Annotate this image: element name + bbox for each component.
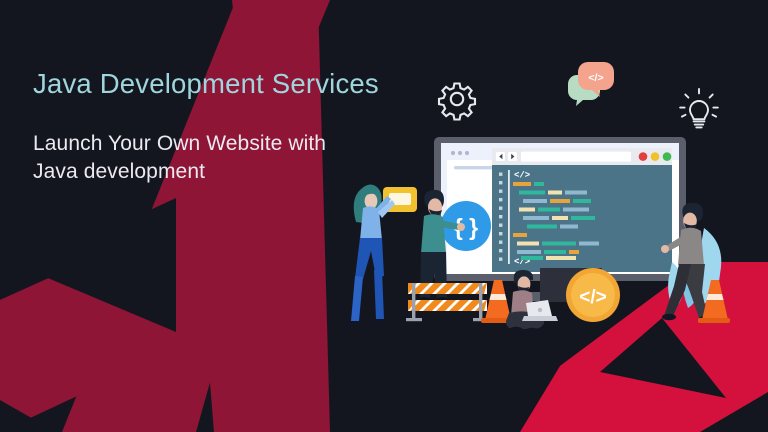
code-bar [517,250,541,254]
editor-vertical-rule [508,170,510,264]
woman-shoe-left [348,321,361,327]
code-bar [569,250,579,254]
code-bar [546,256,576,260]
illustration: </> [0,0,768,432]
man3-shoe-front [662,314,676,320]
barrier-leg-left [412,283,415,321]
code-bar [534,182,544,186]
code-bar [573,199,591,203]
page-subtitle: Launch Your Own Website with Java develo… [33,130,383,186]
code-bar [517,242,539,246]
construction-barrier [406,283,489,321]
code-bar [523,216,549,220]
back-window-dot-3 [465,151,469,155]
text-block: Java Development Services Launch Your Ow… [33,68,433,185]
code-bar [544,250,566,254]
man3-hand [661,245,669,253]
back-window-dot-2 [458,151,462,155]
code-bar [550,199,570,203]
code-coin-text: </> [579,287,606,308]
cone-right-base [698,318,730,323]
woman-shoe-right [373,319,386,325]
code-bar [563,208,589,212]
code-bar [527,225,557,229]
cone-right-stripe [706,294,723,300]
code-bar [513,233,527,237]
chat-bubble-code-text: </> [588,72,603,84]
code-bar [519,191,545,195]
subtitle-line-1: Launch Your Own Website with [33,132,326,155]
subtitle-line-2: Java development [33,160,205,183]
character-woman-reaching-card [348,184,418,327]
lightbulb-icon [680,89,718,127]
woman-leg-right [374,270,384,319]
barrier-foot-left [406,318,422,321]
code-bar [538,208,560,212]
editor-open-tag: </> [514,171,530,181]
man2-foot-right [525,328,539,334]
man2-foot-left [509,327,523,333]
traffic-light-maximize[interactable] [663,152,672,161]
code-bar [519,208,535,212]
gear-icon [439,84,475,120]
banner-root: Java Development Services Launch Your Ow… [0,0,768,432]
code-coin-icon: </> [566,268,620,322]
barrier-leg-right [479,283,482,321]
cone-left-stripe [489,294,506,300]
code-bar [565,191,587,195]
code-bar [571,216,595,220]
traffic-light-close[interactable] [639,152,648,161]
woman-leg-left [351,276,363,321]
man1-hand [457,223,465,231]
code-bar [513,182,531,186]
barrier-stripes [408,283,487,311]
man3-torso [678,228,704,265]
code-bar [560,225,578,229]
code-bar [521,256,543,260]
url-bar[interactable] [521,152,631,162]
code-bar [552,216,568,220]
chat-bubbles-code-icon: </> [568,62,614,106]
laptop-base [522,316,558,321]
code-bar [579,242,599,246]
back-window-dot-1 [451,151,455,155]
code-bar [523,199,547,203]
code-bar [548,191,562,195]
traffic-light-minimize[interactable] [651,152,660,161]
laptop-logo [538,308,542,312]
code-bar [542,242,576,246]
man1-torso [421,214,446,253]
page-title: Java Development Services [33,68,433,100]
